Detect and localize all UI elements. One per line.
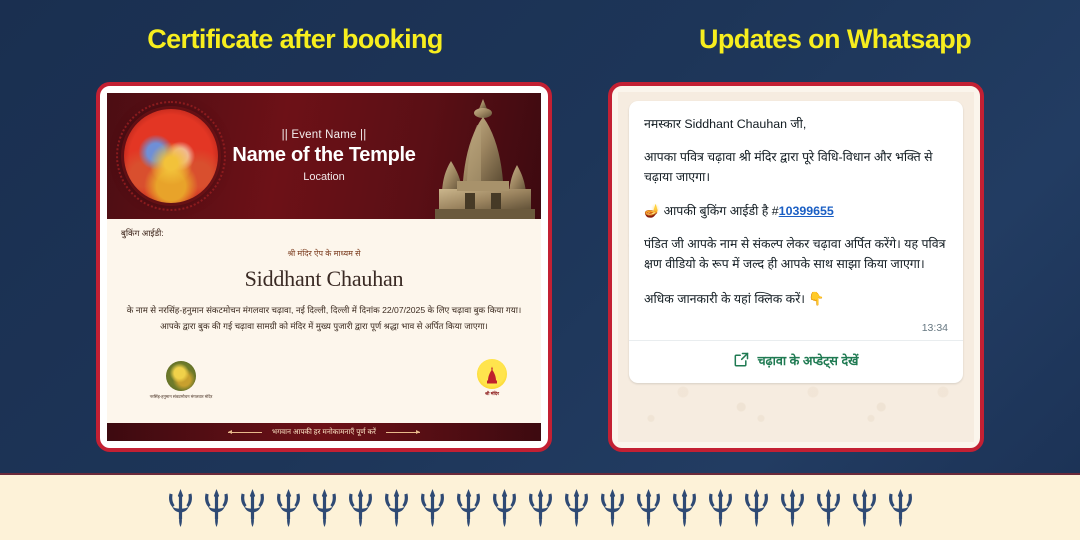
temple-name: Name of the Temple [232, 144, 415, 167]
whatsapp-chat-background: नमस्कार Siddhant Chauhan जी, आपका पवित्र… [618, 92, 974, 442]
trident-trishul-icon [815, 489, 842, 527]
whatsapp-greeting: नमस्कार Siddhant Chauhan जी, [644, 114, 948, 134]
diya-lamp-icon: 🪔 [644, 203, 660, 218]
trident-trishul-icon [635, 489, 662, 527]
trident-trishul-icon [491, 489, 518, 527]
booking-id-link[interactable]: 10399655 [779, 204, 834, 218]
trident-trishul-icon [743, 489, 770, 527]
whatsapp-paragraph-2: पंडित जी आपके नाम से संकल्प लेकर चढ़ावा … [644, 234, 948, 274]
banner-dash-right [386, 432, 420, 433]
whatsapp-action-label: चढ़ावा के अप्डेट्स देखें [758, 352, 859, 369]
whatsapp-action-button[interactable]: चढ़ावा के अप्डेट्स देखें [644, 341, 948, 375]
whatsapp-booking-line: 🪔 आपकी बुकिंग आईडी है #10399655 [644, 200, 948, 221]
whatsapp-paragraph-1: आपका पवित्र चढ़ावा श्री मंदिर द्वारा पूर… [644, 147, 948, 187]
trident-trishul-icon [599, 489, 626, 527]
banner-dash-left [228, 432, 262, 433]
shri-mandir-logo-caption: श्री मंदिर [465, 391, 519, 397]
trident-trishul-icon [707, 489, 734, 527]
certificate-paragraph: के नाम से नरसिंह-हनुमान संकटमोचन मंगलवार… [121, 303, 527, 335]
temple-seal: नरसिंह-हनुमान संकटमोचन मंगलवार मंदिर [133, 361, 229, 400]
trident-trishul-icon [887, 489, 914, 527]
trident-trishul-icon [851, 489, 878, 527]
trident-trishul-icon [671, 489, 698, 527]
whatsapp-cta-line: अधिक जानकारी के यहां क्लिक करें। 👇 [644, 288, 948, 309]
trident-trishul-icon [455, 489, 482, 527]
devotee-name: Siddhant Chauhan [121, 266, 527, 292]
trident-row [167, 489, 914, 527]
trident-trishul-icon [275, 489, 302, 527]
trident-trishul-icon [527, 489, 554, 527]
external-link-icon [734, 352, 749, 370]
trident-trishul-icon [239, 489, 266, 527]
trident-trishul-icon [167, 489, 194, 527]
via-app-line: श्री मंदिर ऐप के माध्यम से [121, 248, 527, 259]
bottom-trident-strip [0, 473, 1080, 540]
whatsapp-card: नमस्कार Siddhant Chauhan जी, आपका पवित्र… [608, 82, 984, 452]
temple-shikhara-icon [431, 95, 535, 219]
hindu-deities-medallion-icon [124, 109, 218, 203]
whatsapp-message-bubble: नमस्कार Siddhant Chauhan जी, आपका पवित्र… [629, 101, 963, 383]
shri-mandir-logo: श्री मंदिर [465, 359, 519, 397]
certificate-blessing-banner: भगवान आपकी हर मनोकामनाएँ पूर्ण करें [107, 423, 541, 441]
trident-trishul-icon [419, 489, 446, 527]
trident-trishul-icon [383, 489, 410, 527]
trident-trishul-icon [347, 489, 374, 527]
whatsapp-time-row: 13:34 [644, 322, 948, 334]
pointing-down-hand-icon: 👇 [808, 291, 824, 306]
certificate-footer: नरसिंह-हनुमान संकटमोचन मंगलवार मंदिर श्र… [107, 359, 541, 423]
certificate-inner: || Event Name || Name of the Temple Loca… [107, 93, 541, 441]
certificate-body: बुकिंग आईडी: श्री मंदिर ऐप के माध्यम से … [107, 219, 541, 359]
message-timestamp: 13:34 [922, 322, 948, 334]
trident-trishul-icon [779, 489, 806, 527]
certificate-header-text: || Event Name || Name of the Temple Loca… [232, 129, 415, 183]
temple-location: Location [232, 171, 415, 183]
temple-seal-icon [166, 361, 196, 391]
trident-trishul-icon [203, 489, 230, 527]
trident-trishul-icon [311, 489, 338, 527]
certificate-header: || Event Name || Name of the Temple Loca… [107, 93, 541, 219]
booking-id-label: बुकिंग आईडी: [121, 228, 527, 239]
event-name: || Event Name || [232, 129, 415, 141]
booking-line-prefix: आपकी बुकिंग आईडी है # [664, 204, 779, 218]
heading-whatsapp: Updates on Whatsapp [590, 24, 1080, 55]
cta-text: अधिक जानकारी के यहां क्लिक करें। [644, 292, 805, 306]
shri-mandir-logo-icon [477, 359, 507, 389]
temple-seal-caption: नरसिंह-हनुमान संकटमोचन मंगलवार मंदिर [133, 394, 229, 400]
heading-certificate: Certificate after booking [0, 24, 590, 55]
poster-canvas: Certificate after booking Updates on Wha… [0, 0, 1080, 540]
certificate-card: || Event Name || Name of the Temple Loca… [96, 82, 552, 452]
trident-trishul-icon [563, 489, 590, 527]
blessing-text: भगवान आपकी हर मनोकामनाएँ पूर्ण करें [272, 427, 376, 437]
